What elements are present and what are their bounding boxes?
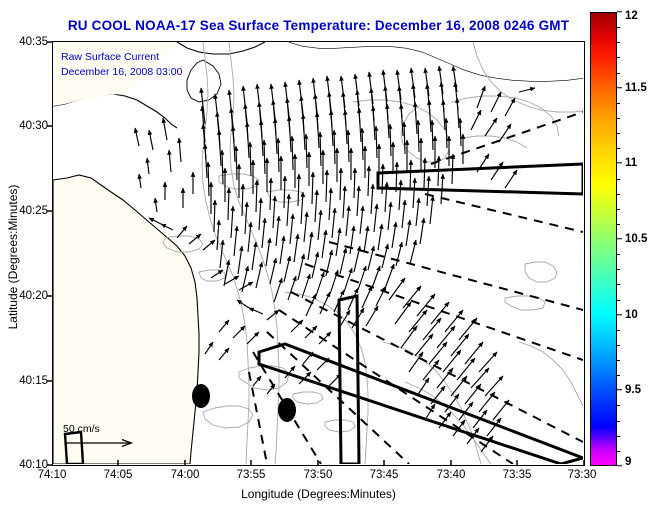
sst-figure: RU COOL NOAA-17 Sea Surface Temperature:… bbox=[0, 0, 660, 519]
colorbar-minor-tick bbox=[617, 42, 620, 43]
colorbar-label-11.5: 11.5 bbox=[625, 82, 647, 94]
colorbar-minor-tick bbox=[617, 194, 620, 195]
x-axis-label: Longitude (Degrees:Minutes) bbox=[52, 487, 585, 501]
xtick-label-6: 73:40 bbox=[437, 469, 466, 481]
colorbar-minor-tick bbox=[617, 73, 620, 74]
colorbar-minor-tick bbox=[617, 179, 620, 180]
colorbar-tick-9 bbox=[617, 465, 622, 466]
station-marker-west bbox=[192, 384, 210, 408]
colorbar-minor-tick bbox=[617, 330, 620, 331]
colorbar-minor-tick bbox=[617, 133, 620, 134]
colorbar-minor-tick bbox=[617, 345, 620, 346]
colorbar-minor-tick bbox=[617, 224, 620, 225]
colorbar-minor-tick bbox=[617, 209, 620, 210]
station-marker-east bbox=[278, 398, 296, 422]
colorbar-tick-9.5 bbox=[617, 390, 622, 391]
colorbar-label-9.5: 9.5 bbox=[625, 384, 641, 396]
map-plot-area[interactable]: Raw Surface Current December 16, 2008 03… bbox=[52, 41, 585, 466]
xtick-label-5: 73:45 bbox=[370, 469, 399, 481]
ytick-label-0: 40:35 bbox=[19, 36, 48, 48]
colorbar-tick-11 bbox=[617, 163, 622, 164]
colorbar-tick-10.5 bbox=[617, 238, 622, 239]
xtick-label-1: 74:05 bbox=[104, 469, 133, 481]
colorbar-container: 12 11.5 11 10.5 10 9.5 9 bbox=[590, 12, 617, 466]
colorbar-minor-tick bbox=[617, 451, 620, 452]
x-axis-ticks bbox=[52, 455, 586, 467]
colorbar-minor-tick bbox=[617, 27, 620, 28]
colorbar-minor-tick bbox=[617, 284, 620, 285]
colorbar-minor-tick bbox=[617, 254, 620, 255]
colorbar-label-11: 11 bbox=[625, 157, 637, 169]
ytick-label-5: 40:10 bbox=[19, 459, 48, 471]
colorbar-minor-tick bbox=[617, 375, 620, 376]
colorbar-tick-11.5 bbox=[617, 87, 622, 88]
ytick-label-1: 40:30 bbox=[19, 120, 48, 132]
colorbar-tick-12 bbox=[617, 11, 622, 12]
xtick-label-4: 73:50 bbox=[304, 469, 333, 481]
y-axis-label: Latitude (Degrees:Minutes) bbox=[6, 147, 20, 367]
colorbar-minor-tick bbox=[617, 118, 620, 119]
page-title: RU COOL NOAA-17 Sea Surface Temperature:… bbox=[52, 18, 585, 33]
map-canvas bbox=[53, 42, 583, 464]
colorbar-gradient bbox=[590, 12, 617, 466]
colorbar-label-10: 10 bbox=[625, 309, 638, 321]
colorbar-tick-10 bbox=[617, 314, 622, 315]
colorbar-label-9: 9 bbox=[625, 456, 631, 468]
xtick-label-7: 73:35 bbox=[503, 469, 532, 481]
colorbar-minor-tick bbox=[617, 148, 620, 149]
ytick-label-3: 40:20 bbox=[19, 290, 48, 302]
colorbar-minor-tick bbox=[617, 360, 620, 361]
xtick-label-2: 74:00 bbox=[171, 469, 200, 481]
colorbar-minor-tick bbox=[617, 421, 620, 422]
colorbar-minor-tick bbox=[617, 103, 620, 104]
colorbar-label-10.5: 10.5 bbox=[625, 233, 647, 245]
colorbar-minor-tick bbox=[617, 57, 620, 58]
ytick-label-4: 40:15 bbox=[19, 375, 48, 387]
colorbar-minor-tick bbox=[617, 405, 620, 406]
colorbar-minor-tick bbox=[617, 300, 620, 301]
xtick-label-3: 73:55 bbox=[237, 469, 266, 481]
colorbar-label-12: 12 bbox=[625, 10, 638, 22]
ytick-label-2: 40:25 bbox=[19, 205, 48, 217]
colorbar-minor-tick bbox=[617, 436, 620, 437]
xtick-label-8: 73:30 bbox=[568, 469, 597, 481]
colorbar-minor-tick bbox=[617, 269, 620, 270]
